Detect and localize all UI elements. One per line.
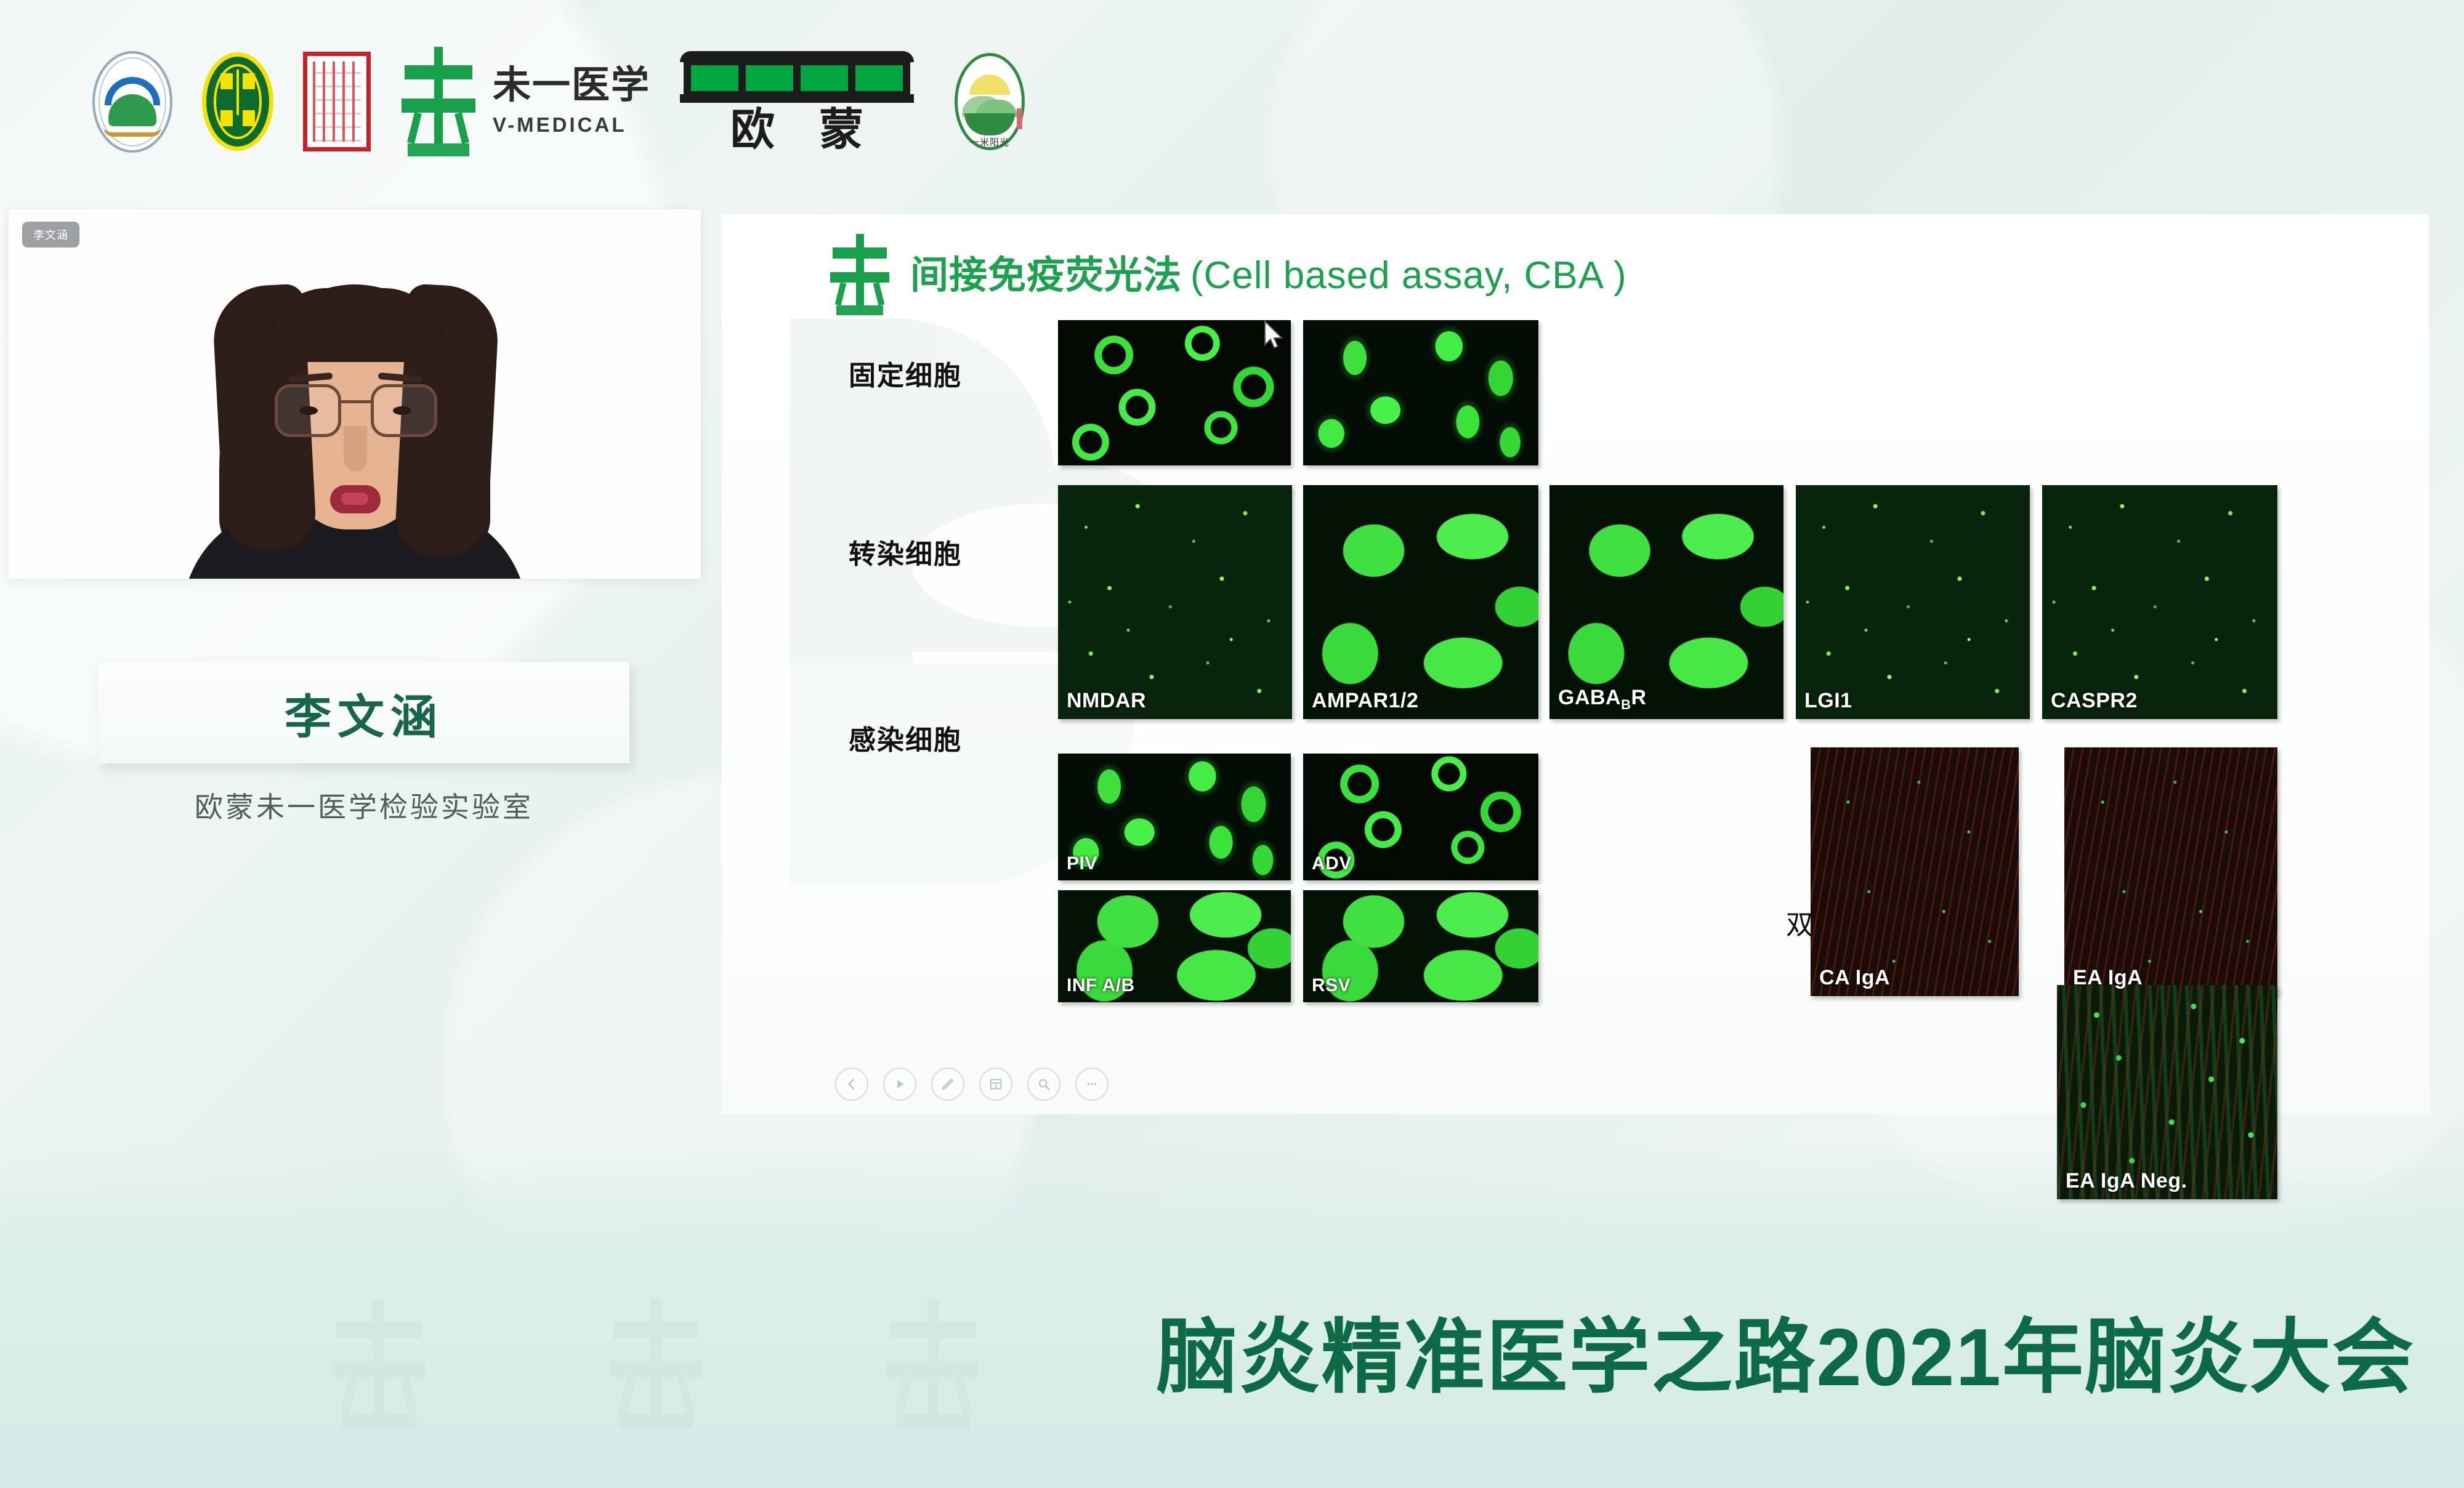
speaker-video-tile[interactable]: 李文涵 — [9, 209, 701, 579]
micrograph-label: PIV — [1067, 853, 1097, 874]
euroimmun-mark-icon — [680, 51, 914, 103]
magnifier-icon — [1037, 1077, 1051, 1091]
micrograph-ca-iga[interactable]: CA IgA — [1811, 747, 2019, 996]
wei-watermark-icon — [333, 1300, 425, 1429]
screen-root: 未一医学 V-MEDICAL 欧 蒙 一米阳光 — [0, 0, 2464, 1488]
play-icon — [893, 1077, 907, 1091]
play-button[interactable] — [883, 1068, 916, 1101]
leaf-oval-icon: 一米阳光 — [943, 49, 1036, 154]
previous-slide-button[interactable] — [835, 1068, 868, 1101]
annotate-button[interactable] — [931, 1068, 964, 1101]
row-label-transfected-cells: 转染细胞 — [849, 532, 962, 571]
video-name-badge: 李文涵 — [22, 222, 79, 247]
grid-icon — [989, 1077, 1003, 1091]
conference-title: 脑炎精准医学之路2021年脑炎大会 — [1156, 1292, 2415, 1409]
pencil-icon — [940, 1077, 955, 1092]
logo-green-oval-seal — [202, 52, 273, 151]
micrograph-ea-iga-neg[interactable]: EA IgA Neg. — [2057, 985, 2277, 1199]
micrograph-label: CA IgA — [1819, 966, 1890, 990]
gabab-label-main: GABA — [1558, 686, 1621, 709]
slide-toolbar[interactable] — [835, 1068, 1109, 1101]
presentation-slide[interactable]: 间接免疫荧光法(Cell based assay, CBA ) 固定细胞 转染细… — [722, 214, 2429, 1114]
speaker-name-plate: 李文涵 — [99, 662, 629, 763]
brand-name-en: V-MEDICAL — [493, 113, 650, 137]
cma-seal-icon — [92, 51, 172, 153]
micrograph-label: AMPAR1/2 — [1312, 689, 1418, 713]
micrograph-ea-iga[interactable]: EA IgA — [2064, 747, 2277, 996]
micrograph-label: CASPR2 — [2051, 689, 2138, 713]
logo-leaf-oval: 一米阳光 — [943, 49, 1036, 154]
micrograph-label: NMDAR — [1067, 689, 1146, 713]
micrograph-caspr2[interactable]: CASPR2 — [2042, 485, 2277, 719]
micrograph-label: INF A/B — [1067, 975, 1135, 996]
micrograph-lgi1[interactable]: LGI1 — [1796, 485, 2030, 719]
euroimmun-name-cn: 欧 蒙 — [714, 108, 879, 152]
micrograph-label: GABABR — [1558, 686, 1647, 713]
more-button[interactable] — [1075, 1068, 1109, 1101]
row-label-fixed-cells: 固定细胞 — [849, 353, 962, 393]
brand-name-cn: 未一医学 — [493, 66, 650, 105]
micrograph-label: EA IgA Neg. — [2066, 1169, 2187, 1193]
gabab-label-sub: B — [1621, 697, 1631, 712]
logo-euroimmun: 欧 蒙 — [680, 51, 914, 152]
row-label-infected-cells: 感染细胞 — [849, 718, 962, 757]
micrograph-infab[interactable]: INF A/B — [1058, 890, 1291, 1002]
wei-character-icon — [400, 47, 477, 156]
micrograph-adv[interactable]: ADV — [1303, 754, 1538, 880]
micrograph-piv[interactable]: PIV — [1058, 754, 1291, 880]
leaf-logo-caption: 一米阳光 — [966, 135, 1014, 149]
slide-title-en: (Cell based assay, CBA ) — [1190, 254, 1627, 297]
ellipsis-icon — [1085, 1077, 1099, 1091]
green-oval-seal-icon — [202, 52, 273, 151]
logo-wei-yi-medical: 未一医学 V-MEDICAL — [400, 47, 650, 156]
micrograph-fixed-1[interactable] — [1058, 320, 1291, 465]
layout-button[interactable] — [979, 1068, 1012, 1101]
micrograph-label: ADV — [1312, 853, 1352, 874]
micrograph-label: RSV — [1312, 975, 1351, 996]
micrograph-label: LGI1 — [1804, 689, 1852, 713]
logo-cma-seal — [92, 51, 172, 153]
micrograph-nmdar[interactable]: NMDAR — [1058, 485, 1292, 719]
slide-title-cn: 间接免疫荧光法 — [910, 254, 1182, 297]
speaker-affiliation: 欧蒙未一医学检验实验室 — [99, 785, 629, 826]
micrograph-gababr[interactable]: GABABR — [1549, 485, 1783, 719]
chevron-left-icon — [845, 1077, 858, 1091]
footer-watermark — [333, 1300, 979, 1429]
speaker-name: 李文涵 — [285, 679, 443, 747]
logo-red-stamp-seal — [303, 52, 371, 151]
header-logo-bar: 未一医学 V-MEDICAL 欧 蒙 一米阳光 — [0, 0, 2464, 203]
wei-watermark-icon — [610, 1300, 702, 1429]
micrograph-rsv[interactable]: RSV — [1303, 890, 1538, 1002]
gabab-label-tail: R — [1631, 686, 1647, 709]
micrograph-fixed-2[interactable] — [1303, 320, 1538, 465]
micrograph-ampar[interactable]: AMPAR1/2 — [1303, 485, 1538, 719]
speaker-portrait — [182, 241, 527, 579]
slide-title: 间接免疫荧光法(Cell based assay, CBA ) — [910, 234, 1627, 299]
wei-watermark-icon — [887, 1300, 979, 1429]
zoom-button[interactable] — [1027, 1068, 1060, 1101]
red-stamp-seal-icon — [303, 52, 371, 151]
micrograph-label: EA IgA — [2073, 966, 2143, 990]
wei-logo-icon — [830, 234, 889, 315]
slide-title-row: 间接免疫荧光法(Cell based assay, CBA ) — [830, 234, 1627, 315]
